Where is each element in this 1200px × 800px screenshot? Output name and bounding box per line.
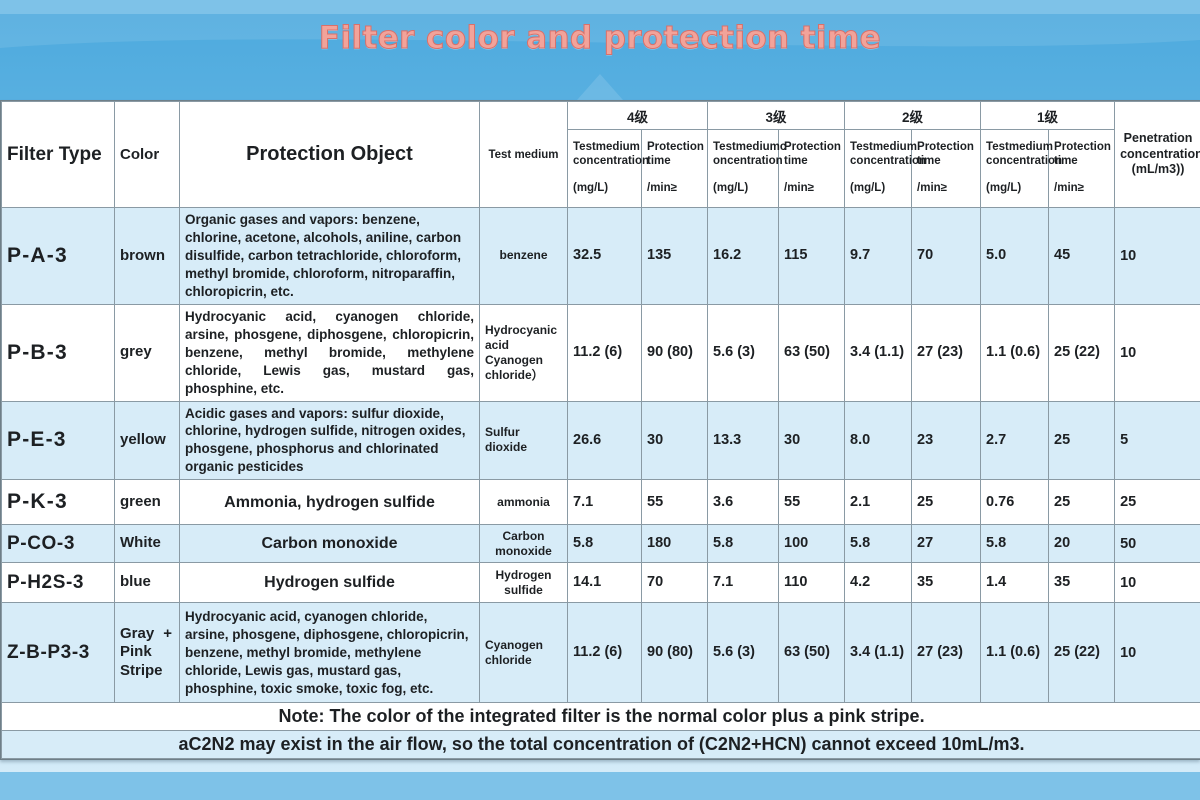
row-g2-time: 27 (23) (912, 304, 981, 401)
page-title: Filter color and protection time (319, 20, 881, 56)
table-row: P-K-3 green Ammonia, hydrogen sulfide am… (2, 480, 1200, 525)
header-g1-concentration: Testmedium concentration (mg/L) (981, 130, 1049, 208)
row-g4-concentration: 5.8 (568, 525, 642, 563)
filter-specification-table: Filter Type Color Protection Object Test… (1, 101, 1200, 759)
header-g2-time: Protection time /min≥ (912, 130, 981, 208)
row-g4-time: 30 (642, 401, 708, 480)
header-filter-type: Filter Type (2, 102, 115, 208)
row-test-medium: Carbon monoxide (480, 525, 568, 563)
table-row: P-CO-3 White Carbon monoxide Carbon mono… (2, 525, 1200, 563)
row-g3-concentration: 3.6 (708, 480, 779, 525)
row-g4-concentration: 26.6 (568, 401, 642, 480)
header-g2-concentration: Testmedium concentration (mg/L) (845, 130, 912, 208)
row-g4-time: 90 (80) (642, 304, 708, 401)
row-g1-time: 20 (1049, 525, 1115, 563)
header-penetration-line3: (mL/m3)) (1132, 162, 1185, 176)
row-filter-type: P-CO-3 (2, 525, 115, 563)
header-test-medium: Test medium (480, 102, 568, 208)
row-filter-type: P-B-3 (2, 304, 115, 401)
row-g4-time: 180 (642, 525, 708, 563)
header-g3-conc-label: Testmediumc oncentration (713, 141, 786, 167)
row-g3-concentration: 7.1 (708, 563, 779, 603)
row-g3-time: 55 (779, 480, 845, 525)
row-g4-concentration: 7.1 (568, 480, 642, 525)
row-g4-concentration: 14.1 (568, 563, 642, 603)
header-protection-object: Protection Object (180, 102, 480, 208)
row-protection-object: Hydrogen sulfide (180, 563, 480, 603)
row-penetration: 25 (1115, 480, 1200, 525)
row-g2-time: 27 (23) (912, 603, 981, 703)
row-g2-time: 35 (912, 563, 981, 603)
header-g3-time: Protection time /min≥ (779, 130, 845, 208)
header-g3-concentration: Testmediumc oncentration (mg/L) (708, 130, 779, 208)
row-g1-concentration: 5.0 (981, 208, 1049, 305)
row-color: blue (115, 563, 180, 603)
row-g2-concentration: 5.8 (845, 525, 912, 563)
header-g1-conc-unit: (mg/L) (986, 182, 1043, 196)
row-filter-type: P-H2S-3 (2, 563, 115, 603)
row-g1-concentration: 1.1 (0.6) (981, 603, 1049, 703)
table-row: P-B-3 grey Hydrocyanic acid, cyanogen ch… (2, 304, 1200, 401)
row-g3-time: 110 (779, 563, 845, 603)
row-penetration: 10 (1115, 208, 1200, 305)
row-g3-time: 63 (50) (779, 603, 845, 703)
row-test-medium: Hydrocyanic acid Cyanogen chloride） (480, 304, 568, 401)
row-g1-time: 25 (22) (1049, 603, 1115, 703)
row-color: + Gray Pink Stripe (115, 603, 180, 703)
row-test-medium: ammonia (480, 480, 568, 525)
row-penetration: 50 (1115, 525, 1200, 563)
row-test-medium: Sulfur dioxide (480, 401, 568, 480)
row-g1-time: 25 (22) (1049, 304, 1115, 401)
row-g1-concentration: 2.7 (981, 401, 1049, 480)
row-color: yellow (115, 401, 180, 480)
table-row: P-E-3 yellow Acidic gases and vapors: su… (2, 401, 1200, 480)
header-g1-time: Protection time /min≥ (1049, 130, 1115, 208)
note-integrated-filter-color: Note: The color of the integrated filter… (2, 703, 1200, 731)
row-g3-time: 115 (779, 208, 845, 305)
row-test-medium: benzene (480, 208, 568, 305)
row-g3-concentration: 16.2 (708, 208, 779, 305)
header-grade-4: 4级 (568, 102, 708, 130)
header-g4-concentration: Testmedium concentration (mg/L) (568, 130, 642, 208)
row-g1-time: 35 (1049, 563, 1115, 603)
header-penetration-concentration: Penetration concentration (mL/m3)) (1115, 102, 1200, 208)
row-g1-concentration: 1.1 (0.6) (981, 304, 1049, 401)
row-penetration: 10 (1115, 304, 1200, 401)
row-penetration: 10 (1115, 603, 1200, 703)
row-color-label: Gray Pink Stripe (120, 625, 163, 680)
row-filter-type: P-K-3 (2, 480, 115, 525)
row-g2-concentration: 9.7 (845, 208, 912, 305)
row-g2-concentration: 2.1 (845, 480, 912, 525)
row-g3-concentration: 13.3 (708, 401, 779, 480)
row-penetration: 10 (1115, 563, 1200, 603)
row-protection-object: Hydrocyanic acid, cyanogen chloride, ars… (180, 304, 480, 401)
row-g2-time: 70 (912, 208, 981, 305)
row-g4-time: 70 (642, 563, 708, 603)
note-row: aC2N2 may exist in the air flow, so the … (2, 731, 1200, 759)
row-g2-time: 23 (912, 401, 981, 480)
row-g3-concentration: 5.6 (3) (708, 304, 779, 401)
header-g2-conc-label: Testmedium concentration (850, 141, 926, 167)
header-g4-time: Protection time /min≥ (642, 130, 708, 208)
row-filter-type: P-E-3 (2, 401, 115, 480)
table-row: P-A-3 brown Organic gases and vapors: be… (2, 208, 1200, 305)
row-color: grey (115, 304, 180, 401)
header-penetration-line2: concentration (1120, 147, 1200, 161)
header-penetration-line1: Penetration (1124, 131, 1193, 145)
row-protection-object: Hydrocyanic acid, cyanogen chloride, ars… (180, 603, 480, 703)
row-color-plus-sign: + (163, 625, 174, 644)
row-g3-time: 100 (779, 525, 845, 563)
header-g2-time-label: Protection time (917, 141, 974, 167)
note-row: Note: The color of the integrated filter… (2, 703, 1200, 731)
row-protection-object: Organic gases and vapors: benzene, chlor… (180, 208, 480, 305)
header-grade-3: 3级 (708, 102, 845, 130)
row-color: brown (115, 208, 180, 305)
row-protection-object: Carbon monoxide (180, 525, 480, 563)
header-g4-conc-unit: (mg/L) (573, 182, 636, 196)
table-body: P-A-3 brown Organic gases and vapors: be… (2, 208, 1200, 759)
row-g1-time: 45 (1049, 208, 1115, 305)
row-protection-object: Ammonia, hydrogen sulfide (180, 480, 480, 525)
header-g3-time-label: Protection time (784, 141, 841, 167)
title-bar: Filter color and protection time (0, 20, 1200, 56)
header-color: Color (115, 102, 180, 208)
row-g4-time: 135 (642, 208, 708, 305)
row-g4-concentration: 11.2 (6) (568, 304, 642, 401)
row-g2-time: 27 (912, 525, 981, 563)
row-filter-type: Z-B-P3-3 (2, 603, 115, 703)
header-g1-time-label: Protection time (1054, 141, 1111, 167)
row-g2-concentration: 8.0 (845, 401, 912, 480)
row-test-medium: Cyanogen chloride (480, 603, 568, 703)
row-g4-concentration: 11.2 (6) (568, 603, 642, 703)
row-g2-concentration: 4.2 (845, 563, 912, 603)
table-header: Filter Type Color Protection Object Test… (2, 102, 1200, 208)
header-row-grades: Filter Type Color Protection Object Test… (2, 102, 1200, 130)
page-root: Filter color and protection time Filter … (0, 0, 1200, 800)
row-g3-concentration: 5.6 (3) (708, 603, 779, 703)
table-row: Z-B-P3-3 + Gray Pink Stripe Hydrocyanic … (2, 603, 1200, 703)
header-grade-1: 1级 (981, 102, 1115, 130)
row-g2-concentration: 3.4 (1.1) (845, 603, 912, 703)
header-g4-conc-label: Testmedium concentration (573, 141, 649, 167)
header-g1-time-unit: /min≥ (1054, 182, 1109, 196)
header-g4-time-label: Protection time (647, 141, 704, 167)
row-g4-time: 90 (80) (642, 603, 708, 703)
row-test-medium: Hydrogen sulfide (480, 563, 568, 603)
row-g1-time: 25 (1049, 480, 1115, 525)
row-g2-concentration: 3.4 (1.1) (845, 304, 912, 401)
header-g2-conc-unit: (mg/L) (850, 182, 906, 196)
row-g1-time: 25 (1049, 401, 1115, 480)
row-g1-concentration: 0.76 (981, 480, 1049, 525)
header-g3-conc-unit: (mg/L) (713, 182, 773, 196)
row-g3-concentration: 5.8 (708, 525, 779, 563)
row-protection-object: Acidic gases and vapors: sulfur dioxide,… (180, 401, 480, 480)
row-color: White (115, 525, 180, 563)
row-penetration: 5 (1115, 401, 1200, 480)
header-g2-time-unit: /min≥ (917, 182, 975, 196)
row-color: green (115, 480, 180, 525)
row-g2-time: 25 (912, 480, 981, 525)
row-g1-concentration: 5.8 (981, 525, 1049, 563)
row-g4-concentration: 32.5 (568, 208, 642, 305)
note-c2n2-concentration-limit: aC2N2 may exist in the air flow, so the … (2, 731, 1200, 759)
row-g1-concentration: 1.4 (981, 563, 1049, 603)
row-g3-time: 30 (779, 401, 845, 480)
row-filter-type: P-A-3 (2, 208, 115, 305)
table-row: P-H2S-3 blue Hydrogen sulfide Hydrogen s… (2, 563, 1200, 603)
header-g4-time-unit: /min≥ (647, 182, 702, 196)
row-g3-time: 63 (50) (779, 304, 845, 401)
row-g4-time: 55 (642, 480, 708, 525)
header-grade-2: 2级 (845, 102, 981, 130)
header-g3-time-unit: /min≥ (784, 182, 839, 196)
header-g1-conc-label: Testmedium concentration (986, 141, 1062, 167)
filter-table-container: Filter Type Color Protection Object Test… (0, 100, 1200, 760)
